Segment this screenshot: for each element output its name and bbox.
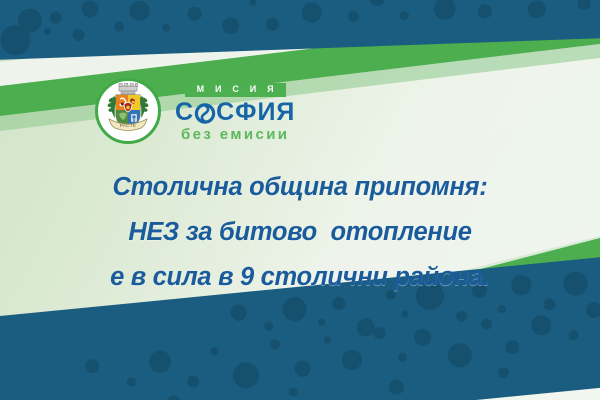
bubble-decor <box>497 367 509 379</box>
bubble-decor <box>288 387 298 397</box>
misia-badge: М И С И Я <box>185 83 286 97</box>
bubble-decor <box>210 347 219 356</box>
bubble-decor <box>167 395 181 400</box>
brand-lockup: РАСТЕ М И С И Я С СФИЯ без емисии <box>95 78 295 144</box>
sofia-wordmark: М И С И Я С СФИЯ без емисии <box>175 81 295 142</box>
bubble-decor <box>401 310 409 318</box>
bubble-decor <box>323 336 331 344</box>
bubble-decor <box>282 296 308 322</box>
bubble-decor <box>585 301 600 318</box>
bubble-decor <box>17 8 42 33</box>
bubble-decor <box>266 18 279 31</box>
bubble-decor <box>527 0 546 19</box>
bubble-decor <box>114 21 124 31</box>
bubble-decor <box>222 17 240 35</box>
bubble-decor <box>294 360 311 377</box>
bubble-decor <box>568 330 579 341</box>
headline-block: Столична община припомня: НЕЗ за битово … <box>0 165 600 300</box>
bubble-decor <box>127 377 137 387</box>
bubble-decor <box>50 11 62 23</box>
bubble-decor <box>456 310 468 322</box>
bubble-decor <box>447 342 473 368</box>
svg-text:РАСТЕ: РАСТЕ <box>120 123 137 128</box>
tagline-bez-emisii: без емисии <box>181 127 289 142</box>
sofia-letters-fiya: СФИЯ <box>216 100 295 125</box>
bubble-decor <box>413 328 432 347</box>
bubble-decor <box>232 361 260 389</box>
crest-svg: РАСТЕ <box>101 83 155 139</box>
bubble-decor <box>481 318 493 330</box>
bubble-decor <box>162 24 170 32</box>
bubble-decor <box>264 321 274 331</box>
bubble-decor <box>433 0 456 20</box>
bubble-decor <box>478 4 492 18</box>
bubble-decor <box>577 0 590 10</box>
bubble-decor <box>230 304 247 321</box>
bubble-decor <box>85 359 100 374</box>
bubble-decor <box>81 0 99 18</box>
bubble-decor <box>318 318 326 326</box>
bubble-decor <box>187 6 201 20</box>
poster-canvas: РАСТЕ М И С И Я С СФИЯ без емисии Столич… <box>0 0 600 400</box>
bubble-decor <box>369 0 386 6</box>
bubble-decor <box>148 350 172 374</box>
sofia-globe-icon <box>194 100 216 125</box>
sofia-word: С СФИЯ <box>175 100 295 125</box>
bubble-decor <box>497 305 506 314</box>
headline-line-2: НЕЗ за битово отопление <box>0 210 600 255</box>
sofia-letter-s: С <box>175 100 194 125</box>
bubble-decor <box>301 2 322 23</box>
bubble-decor <box>341 349 363 371</box>
bubble-decor <box>373 327 386 340</box>
sofia-coat-of-arms-icon: РАСТЕ <box>95 78 161 144</box>
headline-line-3: е в сила в 9 столични района. <box>0 255 600 300</box>
headline-line-1: Столична община припомня: <box>0 165 600 210</box>
bubble-decor <box>397 353 407 363</box>
bubble-decor <box>348 11 359 22</box>
bubble-decor <box>530 314 552 336</box>
bubble-decor <box>249 0 256 6</box>
bubble-decor <box>388 379 404 395</box>
bubble-decor <box>505 340 520 355</box>
bubble-decor <box>187 375 200 388</box>
bubble-decor <box>72 29 84 41</box>
bubble-decor <box>44 28 51 35</box>
bubble-decor <box>129 0 150 21</box>
bubble-decor <box>270 339 281 350</box>
bubble-decor <box>400 11 409 20</box>
